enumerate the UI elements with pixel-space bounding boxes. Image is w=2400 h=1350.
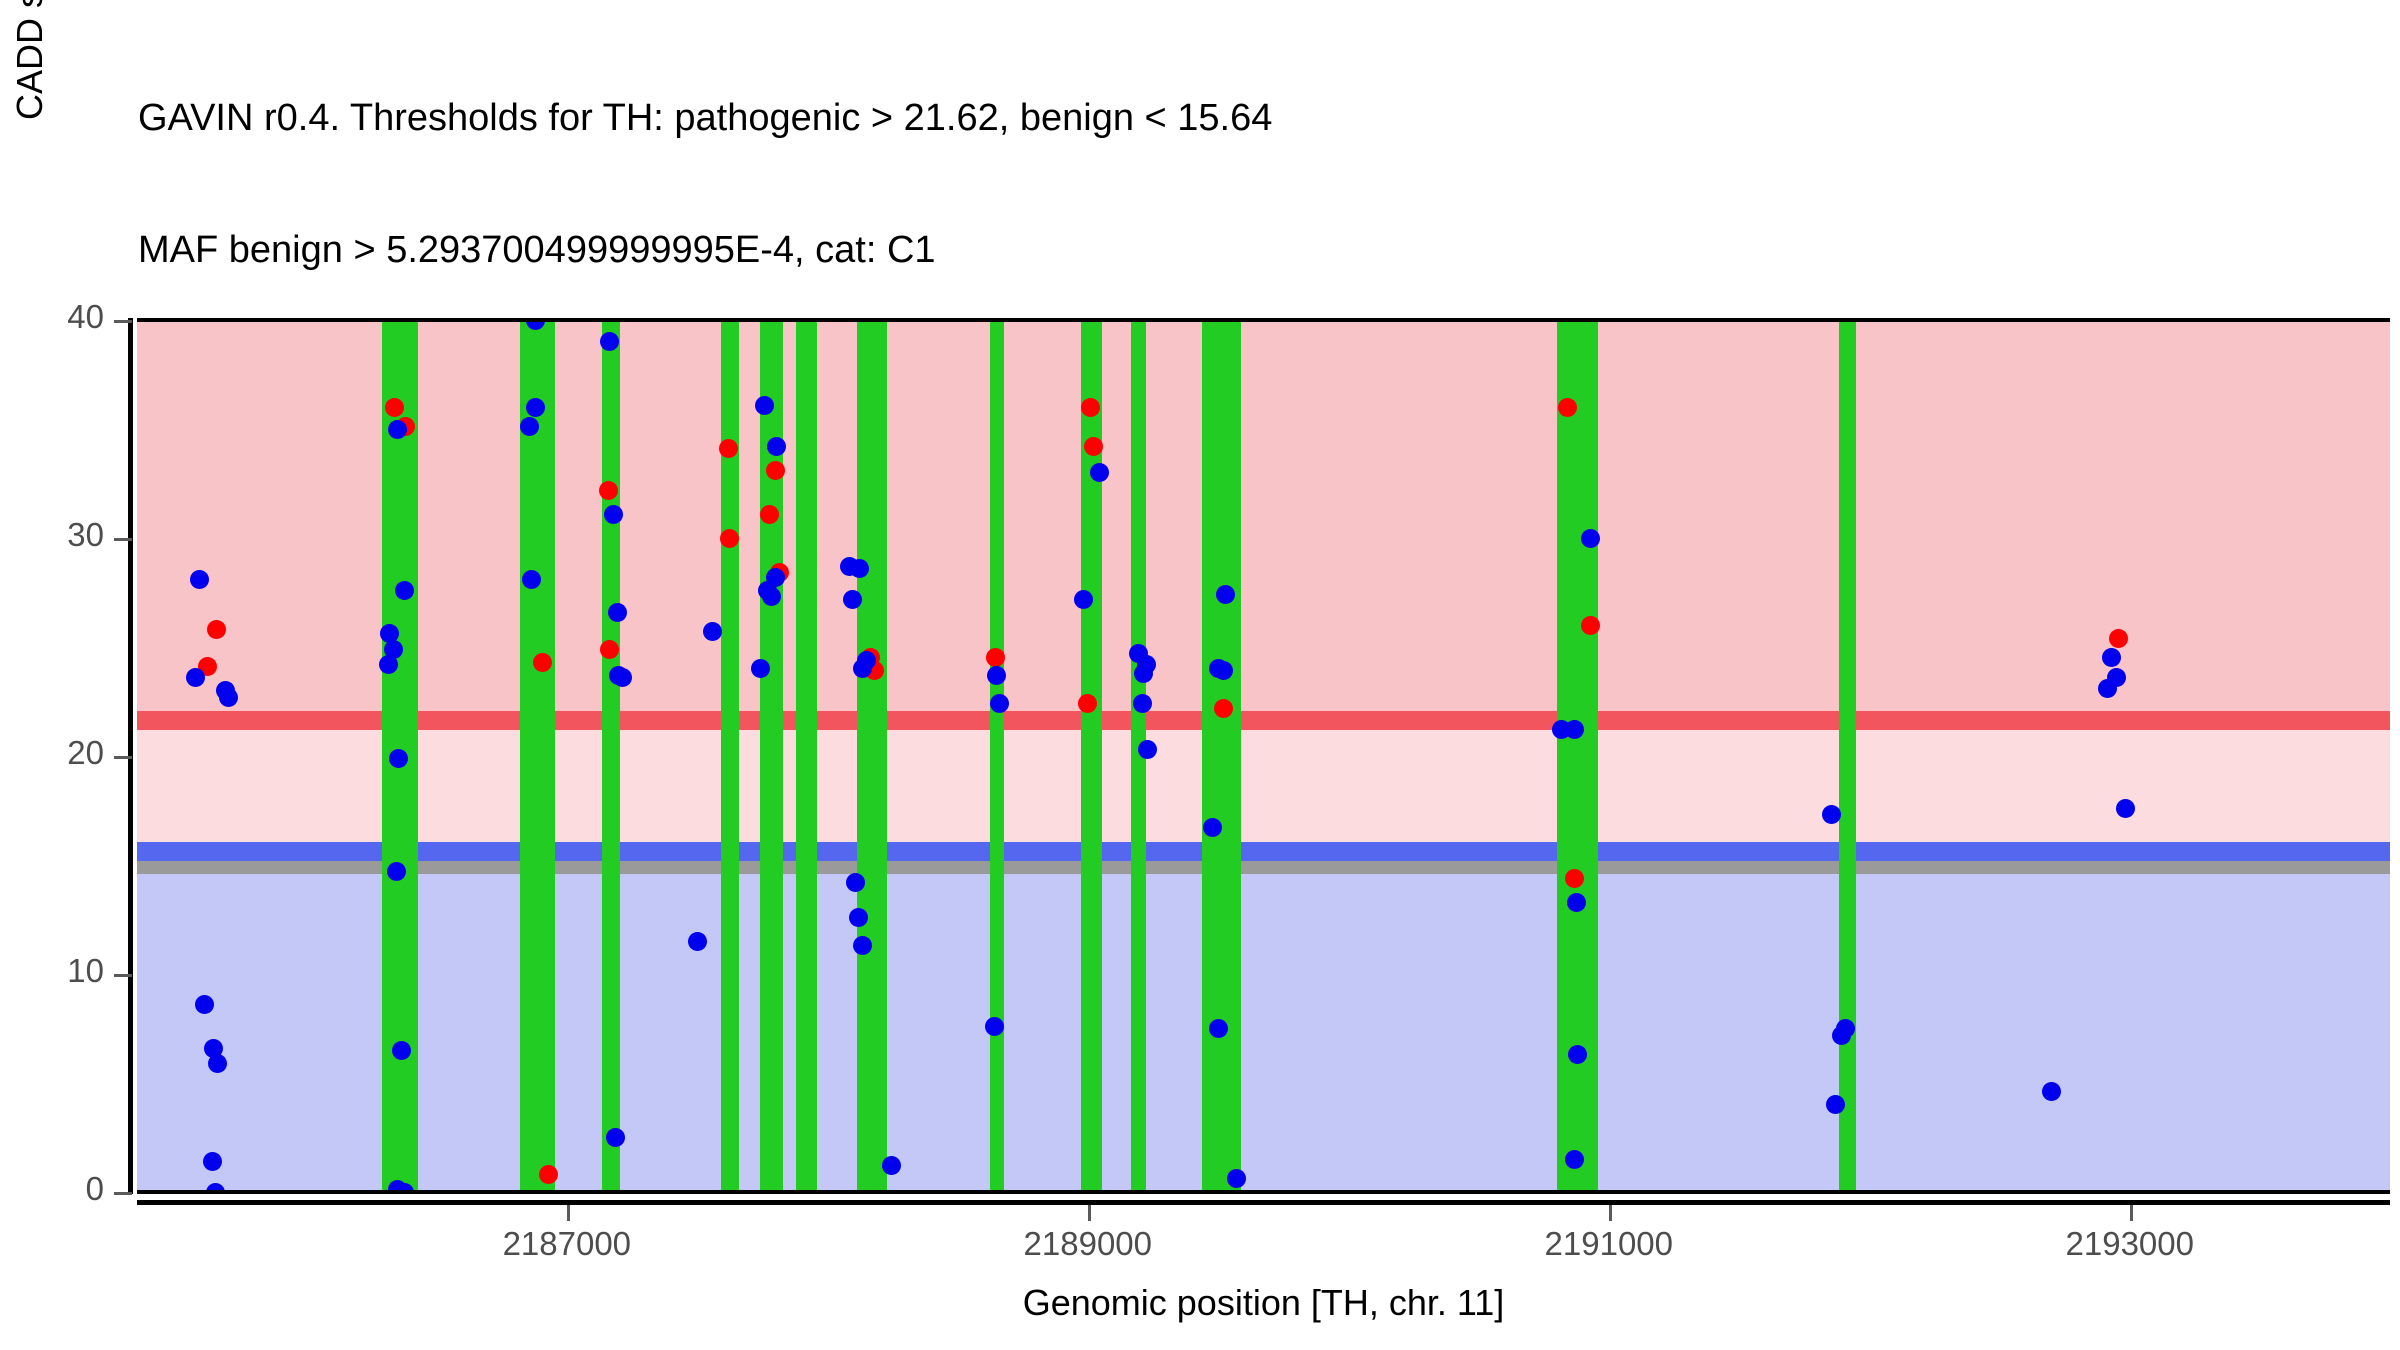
- data-point-pathogenic: [207, 620, 226, 639]
- x-axis-tick-label: 2191000: [1479, 1225, 1739, 1263]
- data-point-pathogenic: [1558, 398, 1577, 417]
- x-axis-tick: [1609, 1205, 1612, 1221]
- data-point-pathogenic: [2109, 629, 2128, 648]
- y-axis-tick-label: 40: [0, 298, 104, 336]
- data-point-benign: [389, 749, 408, 768]
- data-point-benign: [522, 570, 541, 589]
- exon-band: [857, 320, 887, 1192]
- data-point-benign: [755, 396, 774, 415]
- plot-area-wrapper: 2187000218900021910002193000010203040: [0, 0, 2400, 1350]
- pathogenic-region-band: [137, 320, 2390, 721]
- data-point-pathogenic: [1214, 699, 1233, 718]
- x-axis-tick: [1088, 1205, 1091, 1221]
- data-point-benign: [1832, 1026, 1851, 1045]
- data-point-benign: [604, 505, 623, 524]
- data-point-benign: [608, 603, 627, 622]
- x-axis-label: Genomic position [TH, chr. 11]: [137, 1282, 2390, 1324]
- x-axis-tick-label: 2193000: [2000, 1225, 2260, 1263]
- panel-top-border: [137, 318, 2390, 322]
- x-axis-line: [137, 1200, 2390, 1205]
- x-axis-tick: [567, 1205, 570, 1221]
- y-axis-tick: [114, 974, 132, 977]
- y-axis-tick-label: 10: [0, 952, 104, 990]
- y-axis-tick: [114, 320, 132, 323]
- data-point-pathogenic: [533, 653, 552, 672]
- data-point-pathogenic: [599, 481, 618, 500]
- data-point-benign: [766, 568, 785, 587]
- exon-band: [520, 320, 555, 1192]
- pathogenic-threshold-line: [137, 711, 2390, 730]
- x-axis-tick-label: 2187000: [437, 1225, 697, 1263]
- y-axis-tick-label: 20: [0, 734, 104, 772]
- data-point-benign: [990, 694, 1009, 713]
- data-point-benign: [1074, 590, 1093, 609]
- y-axis-tick: [114, 1192, 132, 1195]
- data-point-benign: [767, 437, 786, 456]
- benign-threshold-line: [137, 842, 2390, 861]
- exon-band: [1202, 320, 1241, 1192]
- exon-band: [990, 320, 1004, 1192]
- ambiguous-region-band: [137, 721, 2390, 851]
- x-axis-tick-label: 2189000: [958, 1225, 1218, 1263]
- x-axis-tick: [2130, 1205, 2133, 1221]
- data-point-benign: [190, 570, 209, 589]
- data-point-pathogenic: [766, 461, 785, 480]
- data-point-pathogenic: [385, 398, 404, 417]
- data-point-benign: [1581, 529, 1600, 548]
- data-point-benign: [688, 932, 707, 951]
- y-axis-tick-label: 30: [0, 516, 104, 554]
- data-point-benign: [208, 1054, 227, 1073]
- data-point-benign: [987, 666, 1006, 685]
- data-point-benign: [395, 581, 414, 600]
- data-point-pathogenic: [1581, 616, 1600, 635]
- benign-region-band: [137, 851, 2390, 1192]
- data-point-pathogenic: [1565, 869, 1584, 888]
- data-point-benign: [882, 1156, 901, 1175]
- exon-band: [796, 320, 817, 1192]
- data-point-benign: [985, 1017, 1004, 1036]
- data-point-benign: [219, 688, 238, 707]
- data-point-benign: [392, 1041, 411, 1060]
- data-point-benign: [1209, 1019, 1228, 1038]
- data-point-benign: [853, 936, 872, 955]
- exon-band: [602, 320, 620, 1192]
- data-point-pathogenic: [600, 640, 619, 659]
- data-point-benign: [186, 668, 205, 687]
- data-point-benign: [203, 1152, 222, 1171]
- data-point-pathogenic: [1084, 437, 1103, 456]
- y-axis-tick: [114, 756, 132, 759]
- data-point-benign: [388, 420, 407, 439]
- data-point-benign: [1090, 463, 1109, 482]
- data-point-benign: [1134, 664, 1153, 683]
- data-point-benign: [379, 655, 398, 674]
- data-point-benign: [526, 398, 545, 417]
- data-point-benign: [520, 417, 539, 436]
- data-point-pathogenic: [760, 505, 779, 524]
- y-axis-tick: [114, 538, 132, 541]
- data-point-benign: [1567, 893, 1586, 912]
- data-point-benign: [849, 908, 868, 927]
- data-point-pathogenic: [719, 439, 738, 458]
- data-point-pathogenic: [720, 529, 739, 548]
- y-axis-tick-label: 0: [0, 1170, 104, 1208]
- exon-band: [1839, 320, 1856, 1192]
- data-point-pathogenic: [1081, 398, 1100, 417]
- data-point-pathogenic: [539, 1165, 558, 1184]
- panel-bottom-border: [137, 1190, 2390, 1194]
- data-point-benign: [387, 862, 406, 881]
- data-point-benign: [606, 1128, 625, 1147]
- plot-panel: [137, 320, 2390, 1192]
- data-point-benign: [843, 590, 862, 609]
